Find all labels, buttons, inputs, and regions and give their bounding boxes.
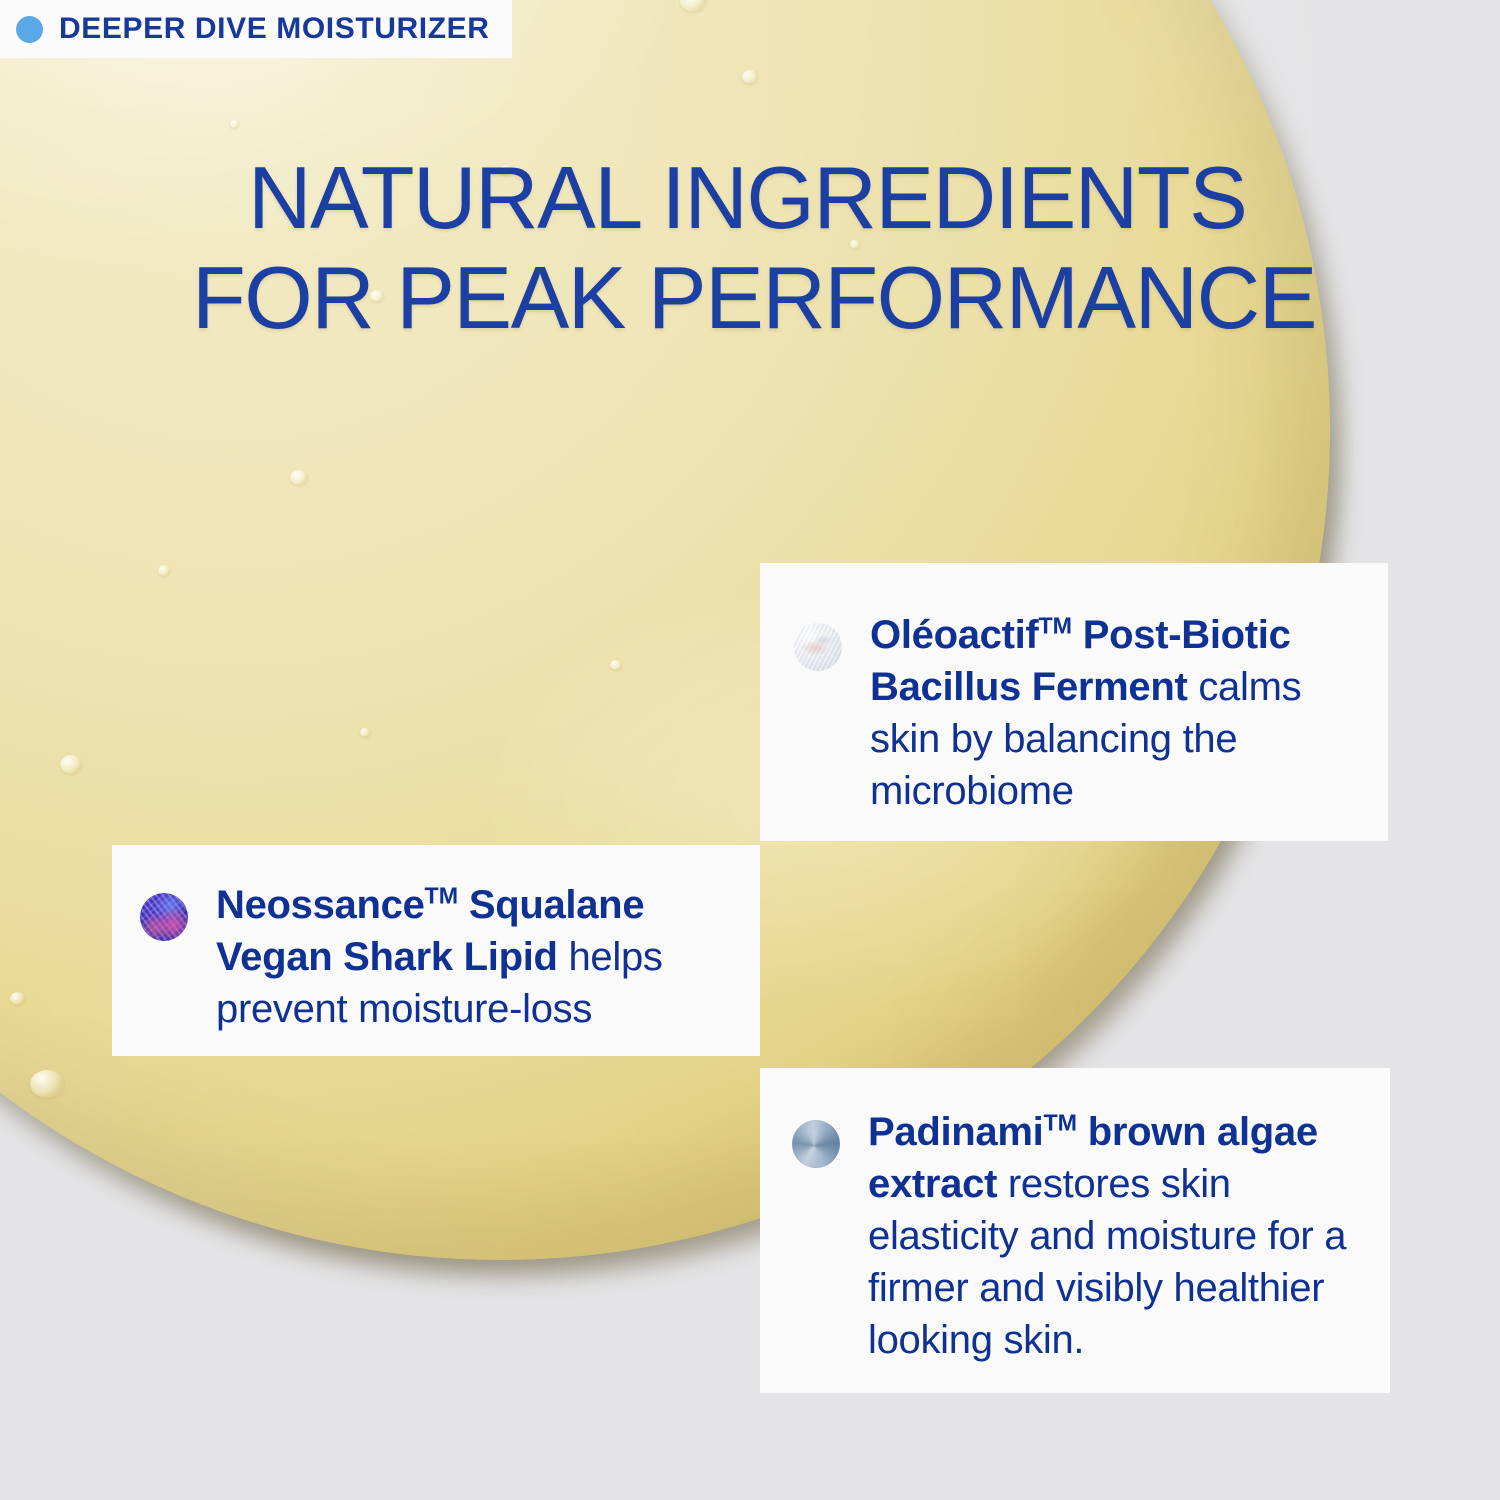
- serum-bubble: [680, 0, 706, 12]
- serum-bubble: [610, 660, 622, 670]
- serum-bubble: [10, 992, 25, 1005]
- headline-line-2: FOR PEAK PERFORMANCE: [192, 248, 1316, 348]
- bullet-dot-icon: [16, 16, 43, 43]
- serum-bubble: [60, 755, 82, 774]
- swatch-texture: [792, 1120, 840, 1168]
- serum-bubble: [360, 728, 370, 737]
- trademark-symbol: TM: [1038, 613, 1071, 639]
- ingredient-card-padinami: PadinamiTM brown algae extract restores …: [760, 1068, 1390, 1393]
- serum-bubble: [742, 70, 758, 84]
- poster-canvas: DEEPER DIVE MOISTURIZER NATURAL INGREDIE…: [0, 0, 1500, 1500]
- page-title: NATURAL INGREDIENTS FOR PEAK PERFORMANCE: [248, 148, 1316, 349]
- ingredient-card-oleoactif: OléoactifTM Post-Biotic Bacillus Ferment…: [760, 563, 1388, 841]
- ingredient-description: OléoactifTM Post-Biotic Bacillus Ferment…: [870, 609, 1350, 797]
- swatch-texture: [140, 893, 188, 941]
- ingredient-name: Padinami: [868, 1110, 1043, 1154]
- swatch-texture: [794, 623, 842, 671]
- serum-bubble: [290, 470, 308, 485]
- eyebrow-text: DEEPER DIVE MOISTURIZER: [59, 14, 490, 44]
- serum-bubble: [158, 565, 170, 576]
- ingredient-name: Oléoactif: [870, 613, 1038, 657]
- ingredient-name: Neossance: [216, 883, 425, 927]
- purple-crystal-swatch-icon: [140, 893, 188, 941]
- blue-algae-swatch-icon: [792, 1120, 840, 1168]
- eyebrow-label: DEEPER DIVE MOISTURIZER: [0, 0, 512, 58]
- pearl-powder-swatch-icon: [794, 623, 842, 671]
- trademark-symbol: TM: [425, 883, 458, 909]
- serum-bubble: [230, 120, 239, 128]
- ingredient-description: NeossanceTM Squalane Vegan Shark Lipid h…: [216, 879, 730, 1026]
- trademark-symbol: TM: [1043, 1110, 1076, 1136]
- ingredient-card-neossance: NeossanceTM Squalane Vegan Shark Lipid h…: [112, 845, 760, 1056]
- headline-line-1: NATURAL INGREDIENTS: [248, 148, 1246, 247]
- ingredient-description: PadinamiTM brown algae extract restores …: [868, 1106, 1356, 1359]
- serum-bubble: [30, 1070, 64, 1098]
